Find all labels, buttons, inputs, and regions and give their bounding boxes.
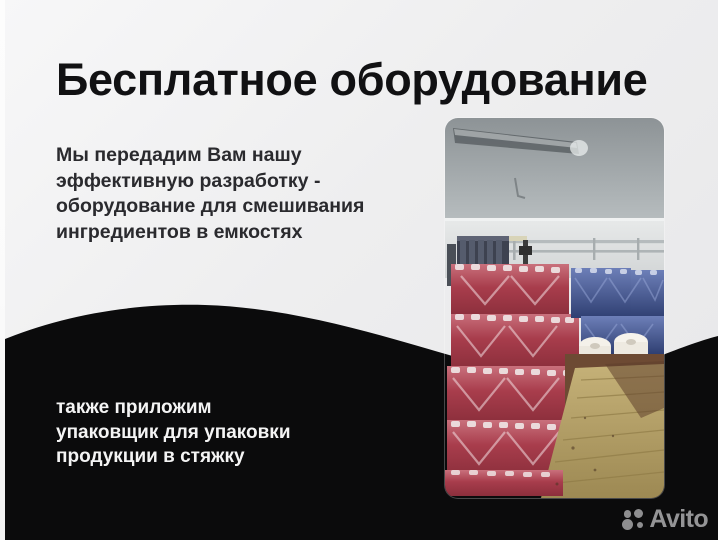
- slide-canvas: Бесплатное оборудование Мы передадим Вам…: [0, 0, 718, 540]
- offer-description-bottom: также приложим упаковщик для упаковки пр…: [56, 396, 396, 470]
- offer-description-top: Мы передадим Вам нашу эффективную разраб…: [56, 143, 436, 245]
- offer-description-bottom-line-2: упаковщик для упаковки: [56, 421, 396, 446]
- offer-description-top-line-2: эффективную разработку -: [56, 169, 436, 195]
- page-title: Бесплатное оборудование: [56, 54, 648, 106]
- product-photo: [445, 118, 664, 498]
- offer-description-bottom-line-1: также приложим: [56, 396, 396, 421]
- avito-watermark: Avito: [622, 507, 708, 532]
- offer-description-top-line-4: ингредиентов в емкостях: [56, 220, 436, 246]
- left-edge-highlight: [0, 0, 5, 540]
- offer-description-bottom-line-3: продукции в стяжку: [56, 445, 396, 470]
- offer-description-top-line-3: оборудование для смешивания: [56, 194, 436, 220]
- offer-description-top-line-1: Мы передадим Вам нашу: [56, 143, 436, 169]
- product-photo-illustration: [445, 118, 664, 498]
- avito-logo-icon: [622, 509, 644, 531]
- avito-wordmark: Avito: [649, 507, 708, 532]
